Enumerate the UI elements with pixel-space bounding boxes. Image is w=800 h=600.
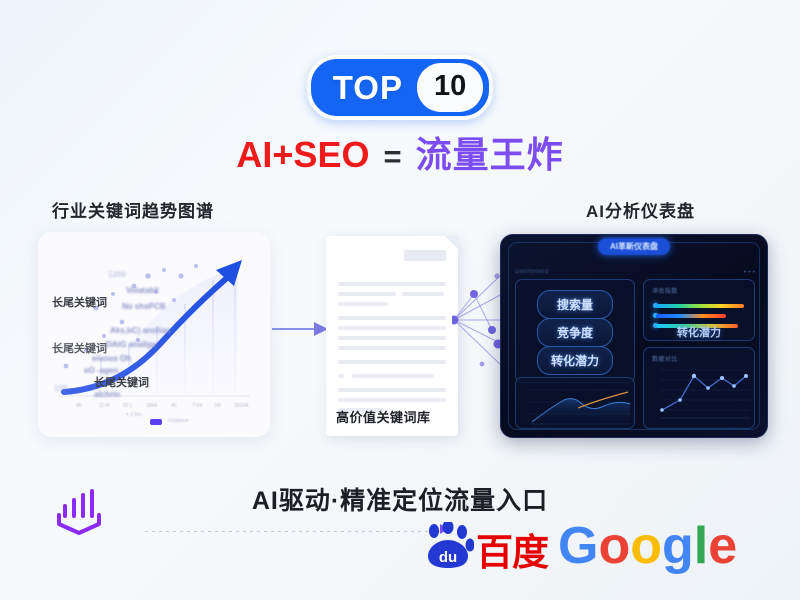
doc-text-line [402,292,444,296]
doc-text-line [338,346,446,350]
trend-blurred-term-1: Volatabli [126,286,159,295]
dashboard-subtitle: Dashboard [515,269,549,275]
gauge-bar [656,304,744,308]
trend-keyword-label-3: 长尾关键词 [94,374,149,390]
doc-text-line [338,336,446,340]
gauge-bar [656,314,726,318]
trend-axis-tick-2: 11:4\ [99,403,110,409]
doc-header-chip [404,250,446,261]
google-letter-o1: o [598,523,630,570]
top-badge-number: 10 [417,63,483,112]
trend-blurred-term-2: No shsPCB [122,302,166,311]
doc-text-line [338,398,446,402]
doc-text-line [338,282,446,286]
trend-axis-caption: + 2.5m [126,412,141,418]
trend-blurred-term-3: Aks,bC) anolian [110,326,170,335]
google-letter-l: l [694,523,708,570]
top-badge: TOP 10 [307,55,494,120]
keyword-library-document: 高价值关键词库 [326,236,458,436]
trend-legend-label: Volatione [168,418,189,424]
gauge-panel-title: 冲击指数 [652,286,678,295]
google-letter-o2: o [630,523,662,570]
left-section-caption: 行业关键词趋势图谱 [52,197,214,222]
trend-area-chart-panel [515,377,635,429]
baidu-logo: du 百度 [424,522,548,570]
metric-button-competition[interactable]: 竞争度 [537,318,613,347]
area-chart-graphic [516,378,636,430]
gauge-overlay-label: 转化潜力 [677,324,721,340]
dashboard-title-badge: AI革新仪表盘 [598,238,670,255]
google-letter-g2: g [662,523,694,570]
doc-text-line [338,388,446,392]
trend-blurred-term-4: DAtG anailge [106,340,156,349]
footer-dotted-line [145,531,445,532]
trend-axis-tick-1: 4h [76,403,82,409]
trend-axis-tick-5: 4h [171,403,177,409]
top-badge-word: TOP [333,71,417,104]
title-operator: = [383,139,401,175]
trend-blurred-term-5: e/oous Oh [92,354,131,363]
dashboard-menu-icon[interactable]: • • • [744,269,755,276]
baidu-paw-icon: du [424,522,474,570]
svg-text:du: du [439,549,457,566]
metrics-panel: 搜索量 竞争度 转化潜力 [515,279,635,383]
trend-blurred-term-9: 150 [54,384,67,393]
trend-keyword-label-1: 长尾关键词 [52,294,107,310]
baidu-logo-text: 百度 [476,536,548,570]
doc-text-line [338,316,446,320]
doc-text-line [338,360,446,364]
trend-axis-tick-3: 02:L [123,403,133,409]
doc-text-line [338,292,396,296]
comparison-panel-title: 数据对比 [652,354,678,363]
doc-bullet [338,374,344,378]
trend-legend-swatch [150,419,162,425]
main-title: AI+SEO = 流量王炸 [0,126,800,178]
doc-text-line [338,326,446,330]
trend-blurred-term-6: eO -agen [84,366,118,375]
title-right-text: 流量王炸 [416,126,564,178]
document-caption: 高价值关键词库 [336,407,431,426]
trend-axis-tick-8: 3024A [234,403,248,409]
flow-arrow-icon [272,320,330,338]
trend-blurred-term-8: 1200 [108,270,126,279]
google-logo: G o o g l e [558,523,737,570]
google-letter-e: e [708,523,737,570]
doc-text-line [338,302,388,306]
trend-blurred-term-7: alchrin [94,390,120,399]
doc-text-line [352,374,434,378]
footer-tagline: AI驱动·精准定位流量入口 [0,481,800,517]
ai-dashboard: AI革新仪表盘 Dashboard • • • 搜索量 竞争度 转化潜力 [500,234,768,438]
title-left-text: AI+SEO [236,134,369,176]
top-badge-wrapper: TOP 10 [0,55,800,120]
impact-gauge-panel: 冲击指数 转化潜力 [643,279,755,341]
google-letter-g1: G [558,523,598,570]
bar-chart-funnel-icon [48,486,110,542]
search-engine-logos: du 百度 G o o g l e [424,522,737,570]
metric-button-conversion[interactable]: 转化潜力 [537,346,613,375]
trend-axis-tick-4: 1844 [146,403,157,409]
right-section-caption: AI分析仪表盘 [586,197,695,222]
trend-axis-tick-6: 7:V4 [192,403,202,409]
trend-axis-tick-7: h9 [215,403,221,409]
comparison-chart-panel: 数据对比 [643,347,755,429]
metric-button-search-volume[interactable]: 搜索量 [537,290,613,319]
